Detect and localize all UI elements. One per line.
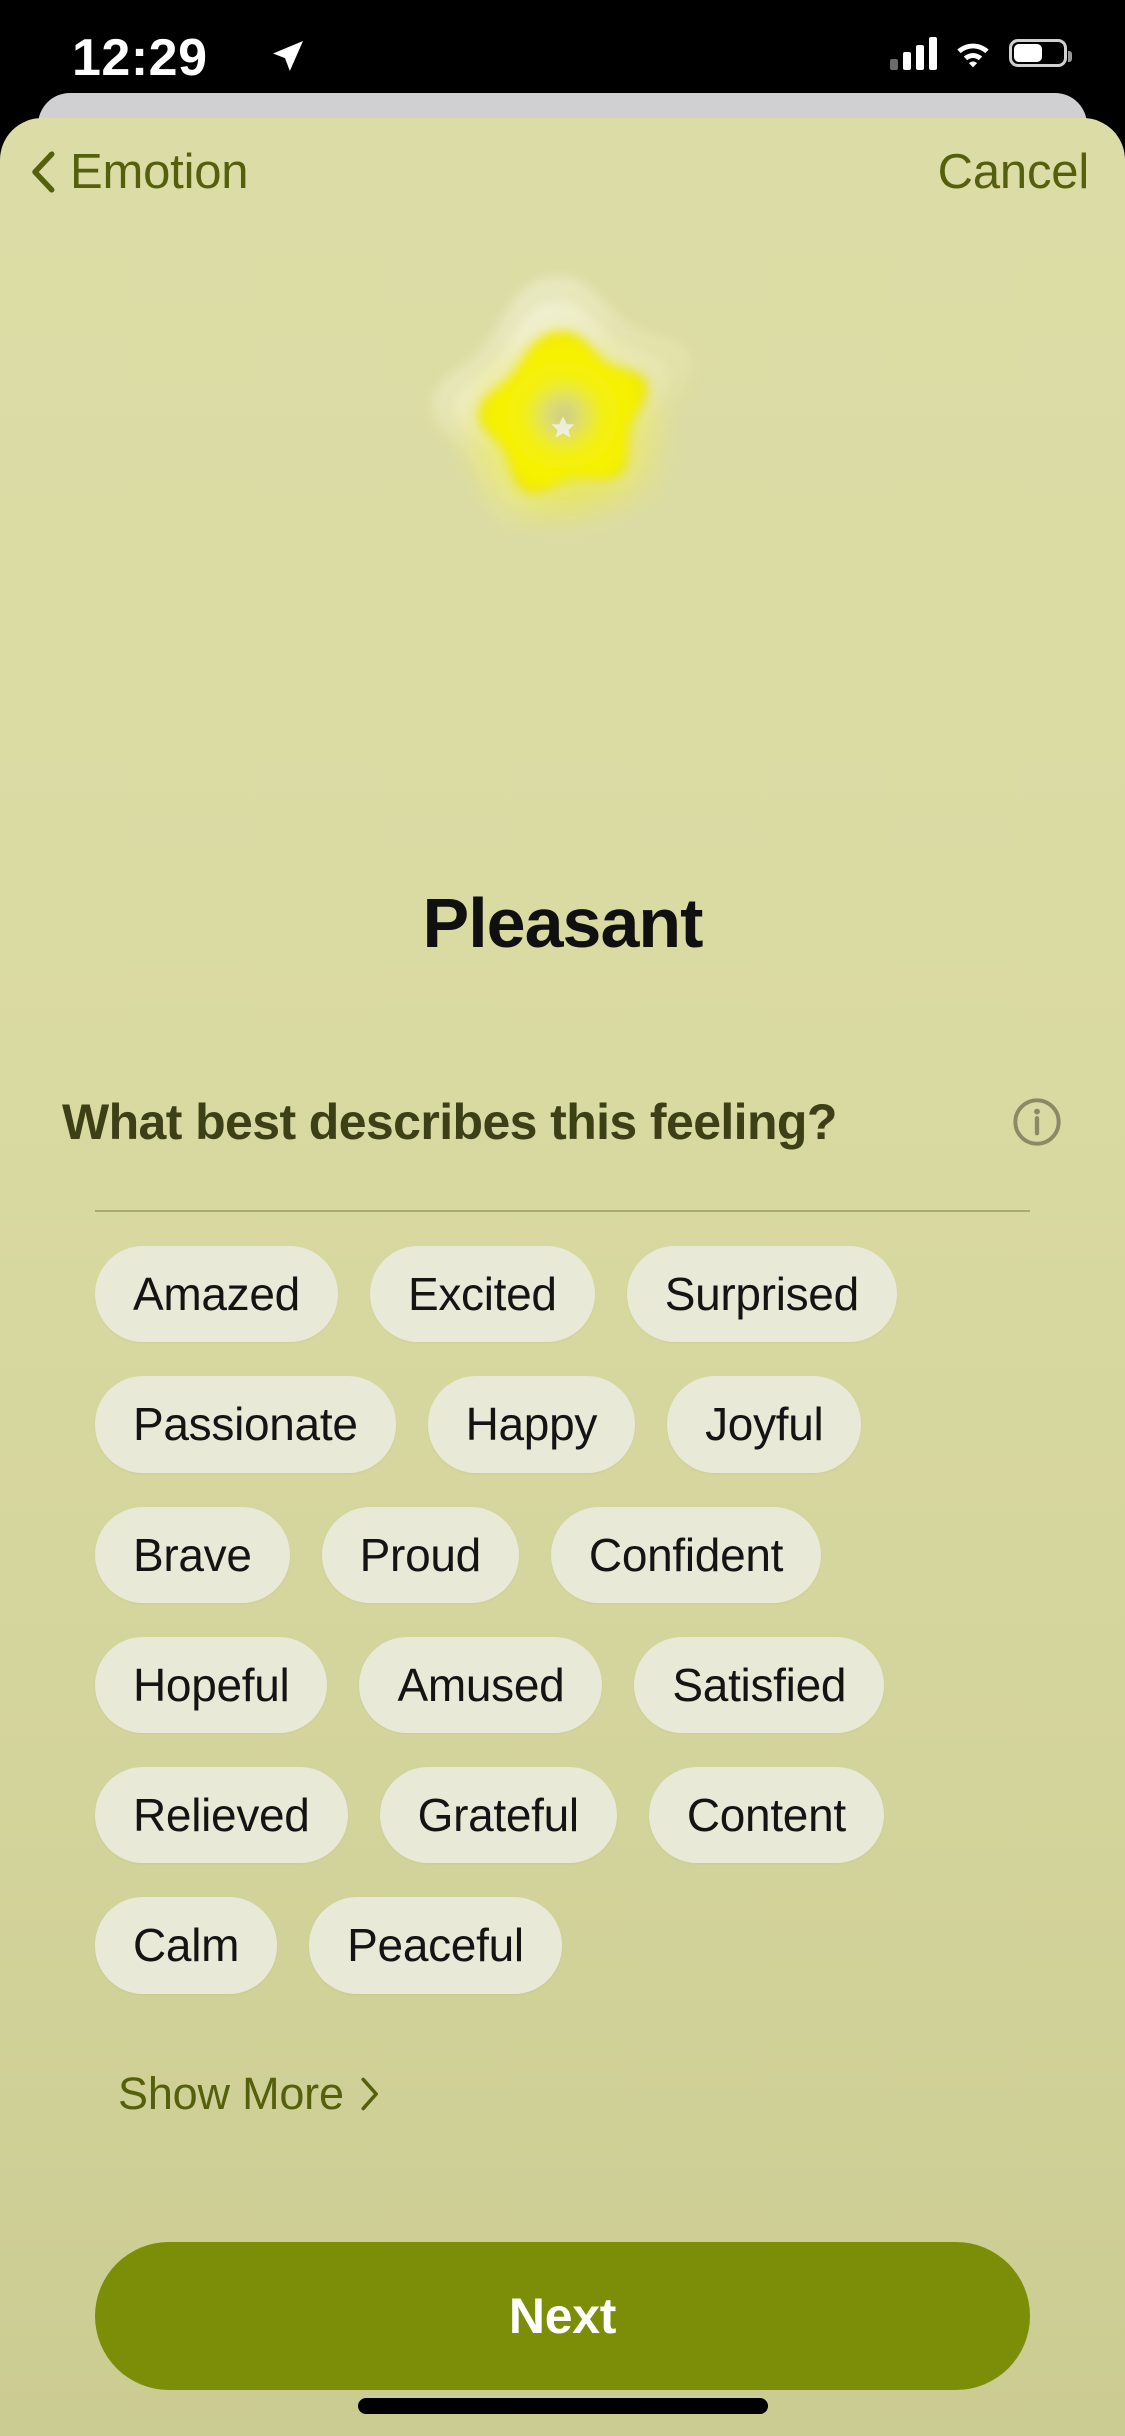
wifi-icon: [953, 38, 993, 68]
question-row: What best describes this feeling?: [0, 1093, 1125, 1151]
emotion-chip[interactable]: Content: [649, 1767, 884, 1863]
emotion-chip[interactable]: Calm: [95, 1897, 277, 1993]
emotion-chip[interactable]: Passionate: [95, 1376, 396, 1472]
emotion-chip[interactable]: Happy: [428, 1376, 635, 1472]
status-bar: 12:29: [0, 0, 1125, 132]
emotion-artwork: [0, 248, 1125, 608]
emotion-chip[interactable]: Peaceful: [309, 1897, 562, 1993]
emotion-chip[interactable]: Amazed: [95, 1246, 338, 1342]
back-button[interactable]: Emotion: [20, 140, 258, 204]
location-arrow-icon: [268, 36, 308, 76]
emotion-chip[interactable]: Proud: [322, 1507, 519, 1603]
question-label: What best describes this feeling?: [62, 1093, 837, 1151]
phone-screen: 12:29 Emotion Cancel: [0, 0, 1125, 2436]
status-bar-indicators: [890, 36, 1067, 70]
emotion-chip[interactable]: Hopeful: [95, 1637, 327, 1733]
chevron-left-icon: [30, 151, 56, 193]
emotion-chip[interactable]: Relieved: [95, 1767, 348, 1863]
status-bar-time: 12:29: [72, 28, 208, 88]
cellular-bars-icon: [890, 36, 937, 70]
show-more-label: Show More: [118, 2068, 344, 2120]
pleasant-star-graphic: [398, 263, 728, 593]
back-button-label: Emotion: [70, 144, 248, 200]
emotion-chip[interactable]: Brave: [95, 1507, 290, 1603]
emotion-chip[interactable]: Satisfied: [634, 1637, 884, 1733]
chevron-right-icon: [360, 2077, 380, 2111]
show-more-button[interactable]: Show More: [118, 2068, 380, 2120]
emotion-chip[interactable]: Grateful: [380, 1767, 617, 1863]
battery-icon: [1009, 39, 1067, 67]
emotion-chip[interactable]: Joyful: [667, 1376, 861, 1472]
page-title: Pleasant: [0, 883, 1125, 963]
star-layers-svg: [398, 263, 728, 593]
next-button[interactable]: Next: [95, 2242, 1030, 2390]
cancel-button[interactable]: Cancel: [938, 144, 1089, 200]
navigation-bar: Emotion Cancel: [0, 118, 1125, 228]
emotion-chip-group: Amazed Excited Surprised Passionate Happ…: [0, 1246, 1125, 1994]
emotion-chip[interactable]: Confident: [551, 1507, 821, 1603]
emotion-chip[interactable]: Amused: [359, 1637, 602, 1733]
home-indicator[interactable]: [358, 2398, 768, 2414]
emotion-sheet: Emotion Cancel: [0, 118, 1125, 2436]
emotion-chip[interactable]: Surprised: [627, 1246, 897, 1342]
section-divider: [95, 1210, 1030, 1212]
emotion-chip[interactable]: Excited: [370, 1246, 595, 1342]
info-circle-icon[interactable]: [1011, 1096, 1063, 1148]
